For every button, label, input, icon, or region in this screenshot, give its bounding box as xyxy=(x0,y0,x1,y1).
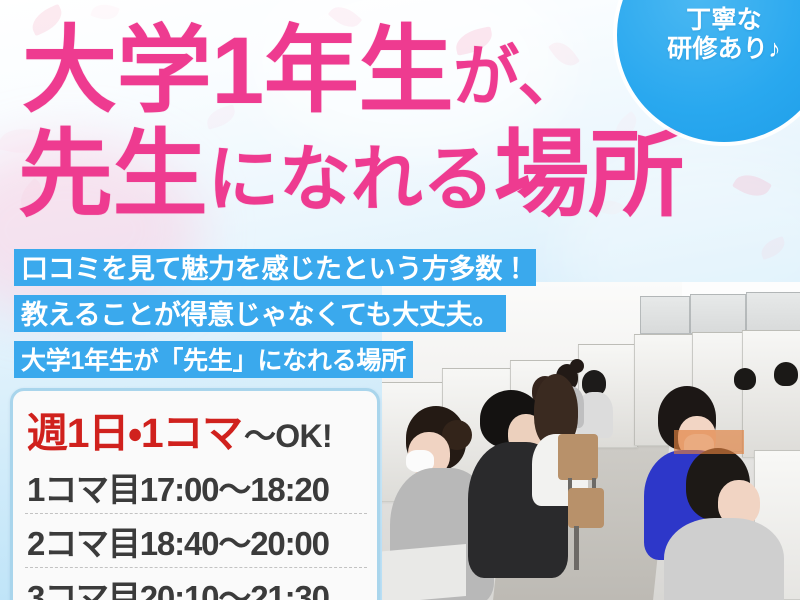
headline-line-1: 大学1年生が、 xyxy=(22,24,583,119)
highlight-bar-3-text: 大学1年生が「先生」になれる場所 xyxy=(21,341,406,377)
booth-partition xyxy=(690,294,746,334)
booth-partition xyxy=(640,296,690,334)
schedule-row: 2コマ目18:40〜20:00 xyxy=(25,513,367,567)
desk-surface xyxy=(674,430,744,454)
training-badge: 丁寧な 研修あり♪ xyxy=(617,0,800,142)
schedule-heading-highlight: 週1日・1コマ xyxy=(27,399,242,459)
headline-line-2-mid: になれる xyxy=(207,140,494,220)
sakura-petal-icon xyxy=(732,168,772,203)
training-badge-line-1: 丁寧な xyxy=(617,6,800,35)
schedule-heading-suffix: 〜OK! xyxy=(244,411,332,457)
highlight-bar-1: 口コミを見て魅力を感じたという方多数！ xyxy=(14,249,536,286)
headline-line-1-suffix: が、 xyxy=(453,39,583,113)
schedule-heading: 週1日・1コマ 〜OK! xyxy=(27,399,367,459)
desk-surface xyxy=(382,544,466,600)
training-badge-text: 丁寧な 研修あり♪ xyxy=(617,6,800,64)
headline-line-2-lead: 先生 xyxy=(18,122,207,228)
schedule-card: 週1日・1コマ 〜OK! 1コマ目17:00〜18:20 2コマ目18:40〜2… xyxy=(10,388,380,600)
headline-line-2: 先生になれる場所 xyxy=(18,128,683,223)
highlight-bar-2: 教えることが得意じゃなくても大丈夫。 xyxy=(14,295,506,332)
highlight-bar-2-text: 教えることが得意じゃなくても大丈夫。 xyxy=(21,293,499,332)
chair xyxy=(568,488,604,528)
sakura-petal-icon xyxy=(758,236,788,260)
highlight-bar-1-text: 口コミを見て魅力を感じたという方多数！ xyxy=(21,247,529,286)
schedule-row: 3コマ目20:10〜21:30 xyxy=(25,567,367,600)
booth-partition xyxy=(746,292,800,334)
chair-leg xyxy=(574,526,579,570)
highlight-bar-3: 大学1年生が「先生」になれる場所 xyxy=(14,341,413,378)
training-badge-line-2: 研修あり♪ xyxy=(617,35,800,64)
chair xyxy=(558,434,598,480)
study-booth xyxy=(742,330,800,458)
schedule-row-list: 1コマ目17:00〜18:20 2コマ目18:40〜20:00 3コマ目20:1… xyxy=(25,460,367,600)
headline-line-1-main: 大学1年生 xyxy=(22,18,453,124)
headline-line-2-tail: 場所 xyxy=(494,122,683,228)
schedule-row: 1コマ目17:00〜18:20 xyxy=(25,460,367,513)
advertisement-banner: 大学1年生が、 先生になれる場所 丁寧な 研修あり♪ 口コミを見て魅力を感じたと… xyxy=(0,0,800,600)
